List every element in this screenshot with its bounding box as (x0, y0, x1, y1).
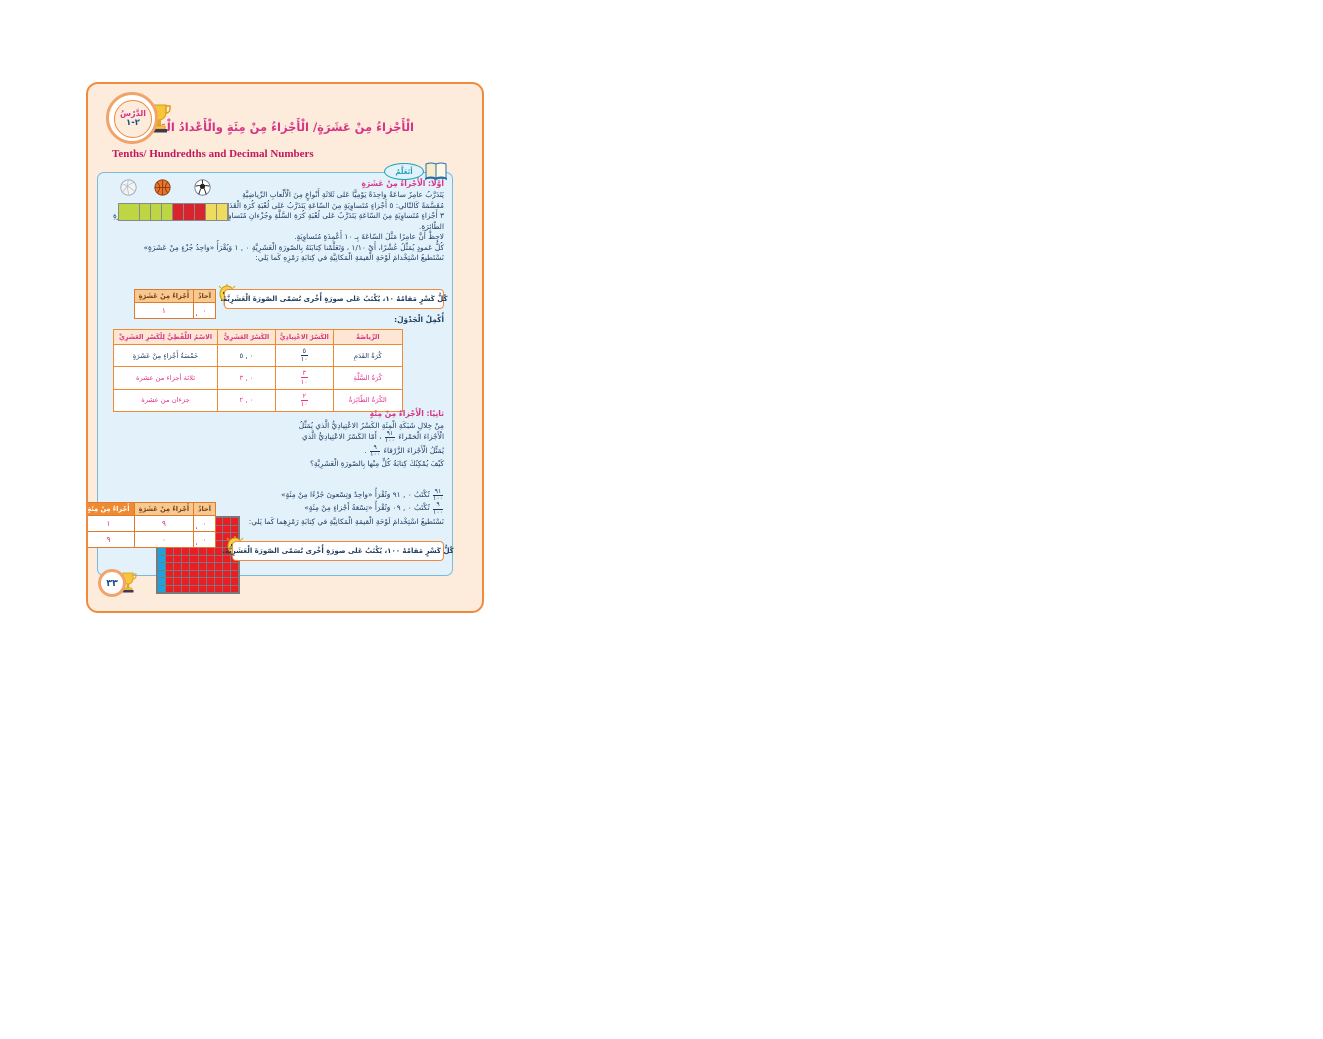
tip-callout-hundredths-text: كُلُّ كَسْرٍ مَقامُهُ ١٠٠، يُكْتَبُ عَلى… (216, 547, 460, 555)
hour-strip-model (118, 203, 229, 221)
strip-cell (173, 204, 184, 220)
hundredths-line-7: نَسْتَطيعُ اسْتِخْدامَ لَوْحَةِ الْقيمَة… (244, 516, 444, 527)
grid-cell-red (231, 518, 238, 525)
sports-balls-row (120, 179, 230, 199)
hundredths-line-3: يُمَثِّلُ الْأَجْزاءَ الزَّرْقاءَ ٩ ١٠٠ … (244, 445, 444, 458)
grid-cell-red (166, 556, 173, 563)
hundredths-line-2a: الْأَجْزاءَ الْحَمْراءَ (398, 432, 444, 441)
grid-cell-red (231, 526, 238, 533)
grid-cell-red (174, 563, 181, 570)
pv-cell-tenths: ١ (134, 303, 194, 319)
table-row: ٠ ٠ ٩ (86, 532, 216, 548)
table-row: ٠ ١ (134, 303, 215, 319)
grid-cell-red (174, 578, 181, 585)
grid-cell-red (190, 548, 197, 555)
grid-cell-red (223, 526, 230, 533)
grid-cell-red (199, 586, 206, 593)
fraction-denominator: ١٠ (301, 377, 308, 385)
table-row: ٠ ٩ ١ (86, 516, 216, 532)
fraction-denominator: ١٠ (301, 355, 308, 363)
page-number: ٣٣ (98, 569, 126, 597)
grid-cell-red (174, 586, 181, 593)
col-header-decimal: الكَسْرُ العَشَرِيُّ (218, 330, 276, 345)
hundredths-line-1: مِنْ خِلالِ شَبَكَةِ الْمِئَةِ الكَسْرُ … (244, 420, 444, 431)
grid-cell-red (207, 578, 214, 585)
grid-cell-red (207, 563, 214, 570)
hundredths-line-4: كَيْفَ يُمْكِنُكَ كِتابَةُ كُلٍّ مِنْها … (244, 458, 444, 469)
hundredths-line-5-text: تُكْتَبُ ٠ , ٩١ وَتُقْرَأُ «واحِدٌ وَتِس… (281, 490, 430, 499)
fraction-denominator: ١٠٠ (433, 509, 443, 516)
strip-cell (217, 204, 228, 220)
pv2-cell-ones: ٠ (194, 532, 216, 548)
grid-cell-blue (158, 563, 165, 570)
grid-cell-red (190, 578, 197, 585)
tip-callout-tenths-text: كُلُّ كَسْرٍ مَقامُهُ ١٠، يُكْتَبُ عَلى … (214, 295, 453, 303)
cell-sport: كُرَةُ السَّلَّةِ (333, 367, 402, 389)
hundredths-line-6-text: تُكْتَبُ ٠ , ٠٩ وَتُقْرَأُ «تِسْعَةُ أَج… (304, 504, 429, 513)
strip-cell (184, 204, 195, 220)
grid-cell-red (231, 586, 238, 593)
grid-cell-red (207, 586, 214, 593)
grid-cell-red (166, 586, 173, 593)
table-row: كُرَةُ القَدَمِ ٥ ١٠ ٠ , ٥ خَمْسَةُ أَجْ… (114, 345, 403, 367)
grid-cell-red (231, 571, 238, 578)
table-header-row: آحادٌ أَجْزاءٌ مِنْ عَشَرَةٍ (134, 290, 215, 303)
pv2-cell-ones: ٠ (194, 516, 216, 532)
grid-cell-red (231, 563, 238, 570)
grid-cell-red (199, 563, 206, 570)
pv2-cell-tenths: ٠ (134, 532, 194, 548)
grid-cell-red (223, 586, 230, 593)
cell-words: ثلاثة أجزاء من عشرة (114, 367, 218, 389)
fraction-display: ٥ ١٠ (301, 348, 308, 363)
grid-cell-red (166, 571, 173, 578)
pv2-cell-hundredths: ١ (86, 516, 134, 532)
section-hundredths-text-b: ٩١ ١٠٠ تُكْتَبُ ٠ , ٩١ وَتُقْرَأُ «واحِد… (244, 489, 444, 527)
learn-tab-oval: أَتَعَلَّمُ (384, 163, 424, 180)
hundredths-line-6: ٩ ١٠٠ تُكْتَبُ ٠ , ٠٩ وَتُقْرَأُ «تِسْعَ… (244, 502, 444, 515)
grid-cell-red (199, 578, 206, 585)
grid-cell-red (182, 563, 189, 570)
hundredths-line-3b: . (364, 446, 366, 455)
grid-cell-red (190, 563, 197, 570)
page-header: الْأَجْزاءُ مِنْ عَشَرَةٍ/ الْأَجْزاءُ م… (88, 84, 482, 150)
section-hundredths-heading: ثانِيًا: الْأَجْزاءُ مِنْ مِئَةٍ (244, 409, 444, 418)
place-value-table-tenths: آحادٌ أَجْزاءٌ مِنْ عَشَرَةٍ ٠ ١ (134, 289, 216, 319)
hundredths-line-2: الْأَجْزاءَ الْحَمْراءَ ٩١ ١٠٠ ، أَمّا ا… (244, 431, 444, 444)
place-value-table-hundredths: آحادٌ أَجْزاءٌ مِنْ عَشَرَةٍ أَجْزاءٌ مِ… (86, 502, 216, 548)
page-number-badge: ٣٣ (98, 569, 148, 603)
grid-cell-red (215, 586, 222, 593)
grid-cell-red (215, 563, 222, 570)
fraction-denominator: ١٠٠ (385, 437, 395, 444)
complete-table-label: أُكْمِلُ الْجَدْوَلَ: (394, 315, 444, 324)
tenths-line-6: نَسْتَطيعُ اسْتِخْدامَ لَوْحَةِ الْقيمَة… (104, 253, 444, 264)
sports-decimal-table: الرِّياضَةُ الكَسْرُ الاعْتِيادِيُّ الكَ… (113, 329, 403, 412)
learn-tab-label: أَتَعَلَّمُ (395, 168, 412, 176)
fraction-numerator: ٥ (301, 348, 308, 355)
grid-cell-blue (158, 548, 165, 555)
strip-cell (140, 204, 151, 220)
pv-header-tenths: أَجْزاءٌ مِنْ عَشَرَةٍ (134, 290, 194, 303)
grid-cell-red (190, 571, 197, 578)
lesson-content-card: أَتَعَلَّمُ أَوَّلًا: الْأَجْزاءُ مِنْ ع… (97, 172, 453, 576)
strip-cell (119, 204, 129, 220)
cell-fraction: ٥ ١٠ (275, 345, 333, 367)
grid-cell-red (207, 571, 214, 578)
open-book-icon (424, 160, 448, 182)
tip-callout-tenths: كُلُّ كَسْرٍ مَقامُهُ ١٠، يُكْتَبُ عَلى … (224, 289, 444, 309)
grid-cell-red (199, 556, 206, 563)
table-header-row: الرِّياضَةُ الكَسْرُ الاعْتِيادِيُّ الكَ… (114, 330, 403, 345)
fraction-display: ٣ ١٠ (301, 370, 308, 385)
volleyball-icon (120, 179, 137, 196)
pv2-header-tenths: أَجْزاءٌ مِنْ عَشَرَةٍ (134, 503, 194, 516)
strip-cell (206, 204, 217, 220)
grid-cell-red (166, 563, 173, 570)
pv-header-ones: آحادٌ (194, 290, 216, 303)
grid-cell-red (182, 578, 189, 585)
fraction-denominator: ١٠٠ (370, 451, 380, 458)
grid-cell-red (166, 578, 173, 585)
grid-cell-red (182, 556, 189, 563)
strip-cell (129, 204, 140, 220)
hundredths-line-2b: ، أَمّا الكَسْرُ الاعْتِيادِيُّ الَّذي (302, 432, 382, 441)
pv2-header-hundredths: أَجْزاءٌ مِنْ مِئَةٍ (86, 503, 134, 516)
textbook-page: الْأَجْزاءُ مِنْ عَشَرَةٍ/ الْأَجْزاءُ م… (86, 82, 484, 613)
strip-cell (162, 204, 173, 220)
fraction-numerator: ٣ (301, 370, 308, 377)
strip-cell (151, 204, 162, 220)
table-header-row: آحادٌ أَجْزاءٌ مِنْ عَشَرَةٍ أَجْزاءٌ مِ… (86, 503, 216, 516)
table-row: كُرَةُ السَّلَّةِ ٣ ١٠ ٠ , ٣ ثلاثة أجزاء… (114, 367, 403, 389)
grid-cell-red (182, 586, 189, 593)
grid-cell-red (182, 548, 189, 555)
grid-cell-blue (158, 586, 165, 593)
grid-cell-blue (158, 578, 165, 585)
cell-sport: كُرَةُ القَدَمِ (333, 345, 402, 367)
cell-words: خَمْسَةُ أَجْزاءٍ مِنْ عَشَرَةٍ (114, 345, 218, 367)
grid-cell-red (223, 518, 230, 525)
grid-cell-blue (158, 556, 165, 563)
grid-cell-red (174, 571, 181, 578)
basketball-icon (154, 179, 171, 196)
fraction-9-100: ٩ ١٠٠ (370, 445, 380, 458)
cell-decimal: ٠ , ٣ (218, 367, 276, 389)
cell-words: جزءان من عشرة (114, 389, 218, 411)
tenths-line-5: كُلُّ عَمودٍ يُمَثِّلُ عُشْرًا، أَيْ ١/١… (104, 243, 444, 254)
grid-cell-red (174, 548, 181, 555)
hundredths-line-5: ٩١ ١٠٠ تُكْتَبُ ٠ , ٩١ وَتُقْرَأُ «واحِد… (244, 489, 444, 502)
strip-cell (195, 204, 206, 220)
grid-cell-red (207, 556, 214, 563)
pv-cell-ones: ٠ (194, 303, 216, 319)
grid-cell-red (199, 548, 206, 555)
grid-cell-red (231, 578, 238, 585)
lesson-badge: الدَّرْسُ ٢-١ (106, 92, 182, 150)
grid-cell-red (174, 556, 181, 563)
fraction-denominator: ١٠ (301, 400, 308, 408)
grid-cell-red (223, 578, 230, 585)
grid-cell-red (223, 563, 230, 570)
lesson-number: ٢-١ (126, 119, 140, 128)
col-header-fraction: الكَسْرُ الاعْتِيادِيُّ (275, 330, 333, 345)
lesson-badge-inner: الدَّرْسُ ٢-١ (114, 100, 152, 138)
grid-cell-red (199, 571, 206, 578)
cell-fraction: ٣ ١٠ (275, 367, 333, 389)
col-header-word-name: الاسْمُ اللَّفْظِيُّ لِلْكَسْرِ العَشَرِ… (114, 330, 218, 345)
grid-cell-red (223, 571, 230, 578)
pv2-cell-tenths: ٩ (134, 516, 194, 532)
grid-cell-red (190, 586, 197, 593)
col-header-sport: الرِّياضَةُ (333, 330, 402, 345)
hundredths-line-3a: يُمَثِّلُ الْأَجْزاءَ الزَّرْقاءَ (383, 446, 444, 455)
cell-decimal: ٠ , ٥ (218, 345, 276, 367)
grid-cell-red (215, 556, 222, 563)
section-hundredths-text: ثانِيًا: الْأَجْزاءُ مِنْ مِئَةٍ مِنْ خِ… (244, 409, 444, 469)
tip-callout-hundredths: كُلُّ كَسْرٍ مَقامُهُ ١٠٠، يُكْتَبُ عَلى… (232, 541, 444, 561)
pv2-header-ones: آحادٌ (194, 503, 216, 516)
soccer-ball-icon (194, 179, 211, 196)
pv2-cell-hundredths: ٩ (86, 532, 134, 548)
grid-cell-red (207, 548, 214, 555)
fraction-9-100-b: ٩ ١٠٠ (433, 502, 443, 515)
fraction-numerator: ٢ (301, 393, 308, 400)
grid-cell-red (166, 548, 173, 555)
fraction-91-100-b: ٩١ ١٠٠ (433, 489, 443, 502)
fraction-91-100: ٩١ ١٠٠ (385, 431, 395, 444)
fraction-display: ٢ ١٠ (301, 393, 308, 408)
grid-cell-red (190, 556, 197, 563)
grid-cell-blue (158, 571, 165, 578)
grid-cell-red (215, 578, 222, 585)
tenths-line-4: لاحِظْ أَنَّ عامِرًا مَثَّلَ السّاعَةَ ب… (104, 232, 444, 243)
lesson-badge-ring: الدَّرْسُ ٢-١ (106, 92, 158, 144)
learn-tab: أَتَعَلَّمُ (380, 162, 446, 184)
grid-cell-red (182, 571, 189, 578)
grid-cell-red (215, 571, 222, 578)
